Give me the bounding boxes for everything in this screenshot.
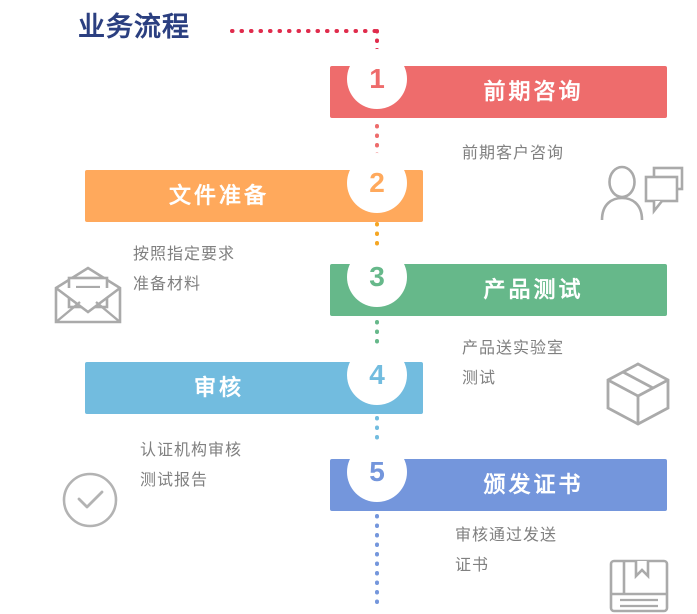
step-number-2: 2 xyxy=(347,153,407,213)
step-label-1: 前期咨询 xyxy=(400,66,667,118)
package-box-icon xyxy=(604,360,672,428)
step-number-4: 4 xyxy=(347,345,407,405)
step-marker-3[interactable]: 3 xyxy=(347,247,407,307)
step-number-1: 1 xyxy=(347,49,407,109)
certificate-book-icon xyxy=(608,558,670,614)
step-label-4: 审核 xyxy=(85,362,353,414)
flowchart-canvas: 业务流程 前期咨询 1 前期客户咨询 文件准备 xyxy=(0,0,697,614)
step-label-5: 颁发证书 xyxy=(400,459,667,511)
step-marker-2[interactable]: 2 xyxy=(347,153,407,213)
step-description-4: 认证机构审核 测试报告 xyxy=(140,436,242,496)
step-number-5: 5 xyxy=(347,442,407,502)
page-title: 业务流程 xyxy=(78,5,190,44)
step-marker-1[interactable]: 1 xyxy=(347,49,407,109)
step-description-5: 审核通过发送 证书 xyxy=(455,521,557,581)
step-marker-5[interactable]: 5 xyxy=(347,442,407,502)
person-speech-bubble-icon xyxy=(598,164,688,226)
step-description-2: 按照指定要求 准备材料 xyxy=(133,240,235,300)
step-label-2: 文件准备 xyxy=(85,170,353,222)
step-marker-4[interactable]: 4 xyxy=(347,345,407,405)
step-label-3: 产品测试 xyxy=(400,264,667,316)
step-description-1: 前期客户咨询 xyxy=(462,139,564,169)
step-description-3: 产品送实验室 测试 xyxy=(462,334,564,394)
envelope-document-icon xyxy=(52,266,124,328)
check-circle-icon xyxy=(60,470,120,530)
step-number-3: 3 xyxy=(347,247,407,307)
